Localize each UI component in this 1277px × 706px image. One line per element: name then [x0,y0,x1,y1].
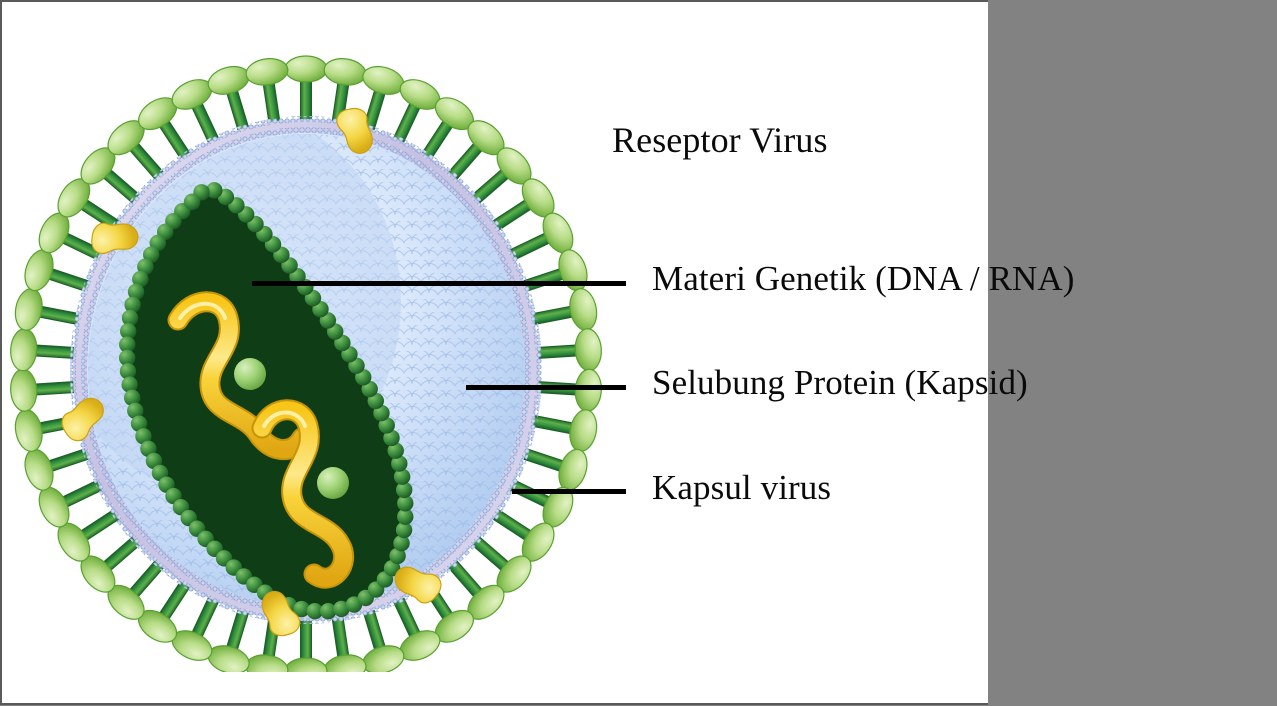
capsid-bead [184,194,200,210]
outside-slide-area [988,0,1277,706]
slide-canvas: Reseptor Virus Materi Genetik (DNA / RNA… [0,0,1277,706]
virus-diagram [0,52,616,672]
